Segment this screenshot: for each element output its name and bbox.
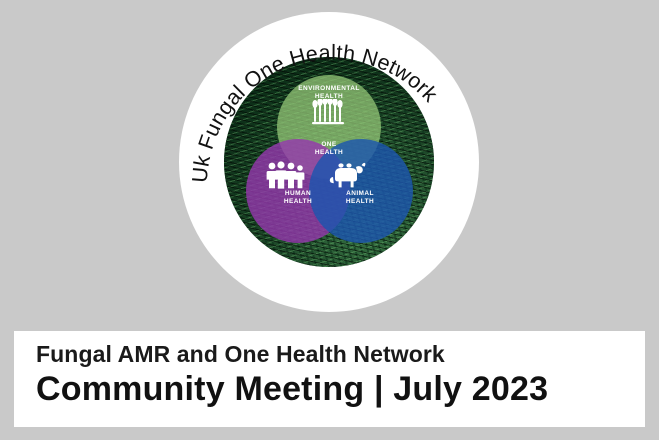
arc-title-text: Uk Fungal One Health Network [188,40,443,183]
network-logo: ENVIRONMENTAL HEALTH ONE HEALTH HUMAN HE… [179,12,479,312]
banner-subtitle: Fungal AMR and One Health Network [36,341,645,367]
logo-arc-title: Uk Fungal One Health Network [179,12,479,312]
title-banner: Fungal AMR and One Health Network Commun… [14,331,645,427]
banner-title: Community Meeting | July 2023 [36,369,645,410]
